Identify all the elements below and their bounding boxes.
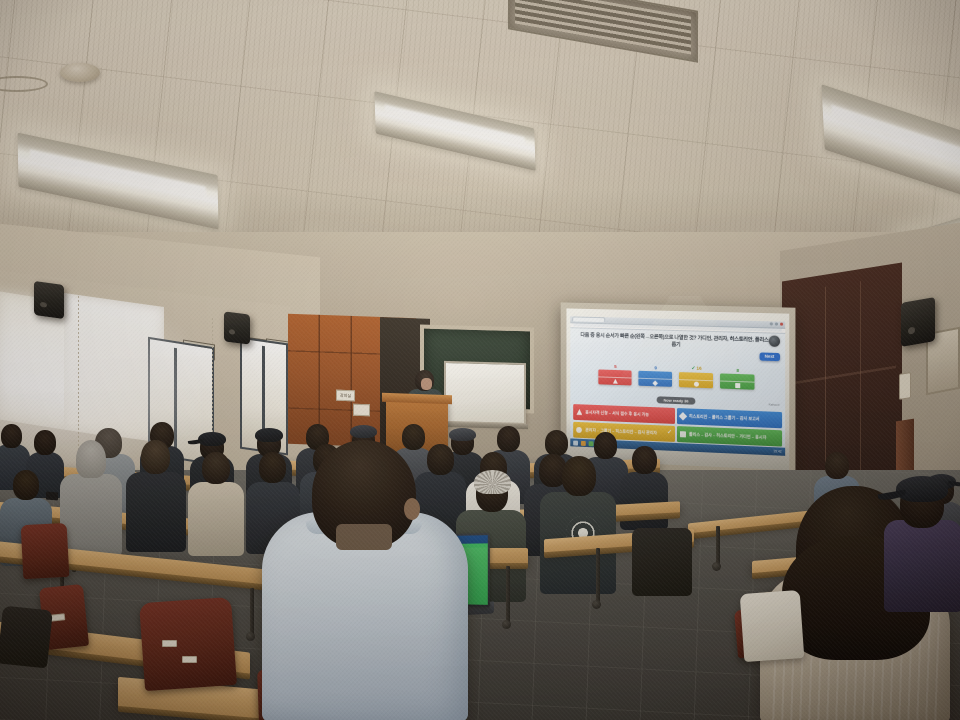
wall-speaker-icon [34,281,64,319]
attendee-head [632,446,657,474]
bar-box [639,371,673,387]
foreground-attendee [262,440,468,720]
answer-bar-green: 8 [721,367,755,390]
attendee-head [141,440,170,474]
attendee-head [562,456,596,496]
answer-option-text: 응시자격 신청 – 서식 접수 후 응시 가능 [585,410,649,418]
quiz-question: 다음 중 응시 순서가 빠른 순(왼쪽→오른쪽)으로 나열한 것? 가디언, 관… [571,328,785,354]
quiz-logo-icon [768,335,779,346]
table-leg [716,526,720,566]
taskbar-clock: 15:42 [773,449,781,453]
attendee [884,476,960,606]
table-leg [506,566,510,628]
close-icon[interactable] [780,323,783,326]
square-icon [680,431,686,437]
answer-option-red[interactable]: 응시자격 신청 – 서식 접수 후 응시 가능 [574,404,675,424]
attendee-head [202,452,230,484]
bar-box [599,370,632,386]
attendee-head [13,470,39,500]
answer-option-text: 폴리스 – 감사 – 히스토리안 – 가디언 – 응시자 [689,432,766,440]
room-sign: 강의실 [336,390,355,402]
answer-count: ✓ 16 [691,365,701,371]
window-controls[interactable] [769,323,782,326]
triangle-icon [577,409,583,415]
classroom-scene: 강의실 [0,0,960,720]
attendee-torso [188,482,244,556]
table-leg [596,548,600,606]
chair-asset-tag [162,640,177,647]
minimize-icon[interactable] [769,323,772,326]
status-badge: Now ready 36 [657,396,696,405]
bar-box [679,372,713,388]
next-button[interactable]: Next [760,352,780,361]
answer-distribution-chart: 5 9 ✓ 16 [571,361,785,391]
table-caster [712,562,721,571]
wall-speaker-icon [224,311,250,344]
correct-check-icon: ✓ [667,429,672,437]
presenter-face [421,378,432,390]
table-leg [250,588,254,638]
triangle-icon [613,379,618,384]
attendee [188,452,244,552]
attendee-head [497,426,520,452]
attendee [126,440,186,548]
attendee-head [594,432,617,459]
answer-count: 8 [736,368,739,373]
baseball-cap-icon [350,425,377,438]
wall-outlet-icon [353,404,370,417]
attendee-torso [620,472,668,530]
attendee-torso [60,474,122,556]
bar-box [721,374,755,390]
chair-asset-tag [182,656,197,663]
smoke-detector-icon [60,63,100,82]
answer-bar-red: 5 [599,363,632,385]
diamond-icon [679,412,687,420]
answer-count-value: 16 [696,366,701,371]
cloth-bag [740,590,805,662]
attendee-torso [126,472,186,552]
table-caster [246,632,255,641]
ear [404,498,420,520]
answer-option-blue[interactable]: 히스토리안 – 폴리스 그룹기 – 감사 보고서 [677,408,782,428]
attendee-head [825,452,849,479]
answer-bar-yellow: ✓ 16 [679,365,713,389]
answer-bar-blue: 9 [639,365,673,388]
classroom-chair[interactable] [21,523,70,579]
answer-count: 9 [654,365,657,370]
maximize-icon[interactable] [774,323,777,326]
quiz-brand-label: Kahoot! [769,402,780,406]
whiteboard [444,361,526,425]
browser-tab[interactable] [573,317,606,323]
attendee-head [76,440,106,478]
wall-speaker-icon [901,297,935,347]
light-switch-icon[interactable] [899,372,911,400]
square-icon [735,383,740,388]
attendee-head [545,430,568,456]
table-caster [592,600,601,609]
attendee-head [1,424,22,448]
neck [336,524,392,550]
correct-check-icon: ✓ [691,365,695,371]
backpack [0,606,53,669]
attendee [540,456,616,592]
table-caster [502,620,511,629]
blind-pull-chain[interactable] [212,318,213,448]
backpack [632,528,692,596]
knit-beanie-icon [474,470,511,494]
answer-count: 5 [614,364,617,369]
attendee-torso [884,520,960,612]
circle-icon [694,381,699,386]
classroom-chair[interactable] [139,597,237,691]
attendee-head [34,430,56,455]
answer-option-text: 히스토리안 – 폴리스 그룹기 – 감사 보고서 [689,414,760,422]
attendee [60,440,122,550]
diamond-icon [653,380,659,386]
